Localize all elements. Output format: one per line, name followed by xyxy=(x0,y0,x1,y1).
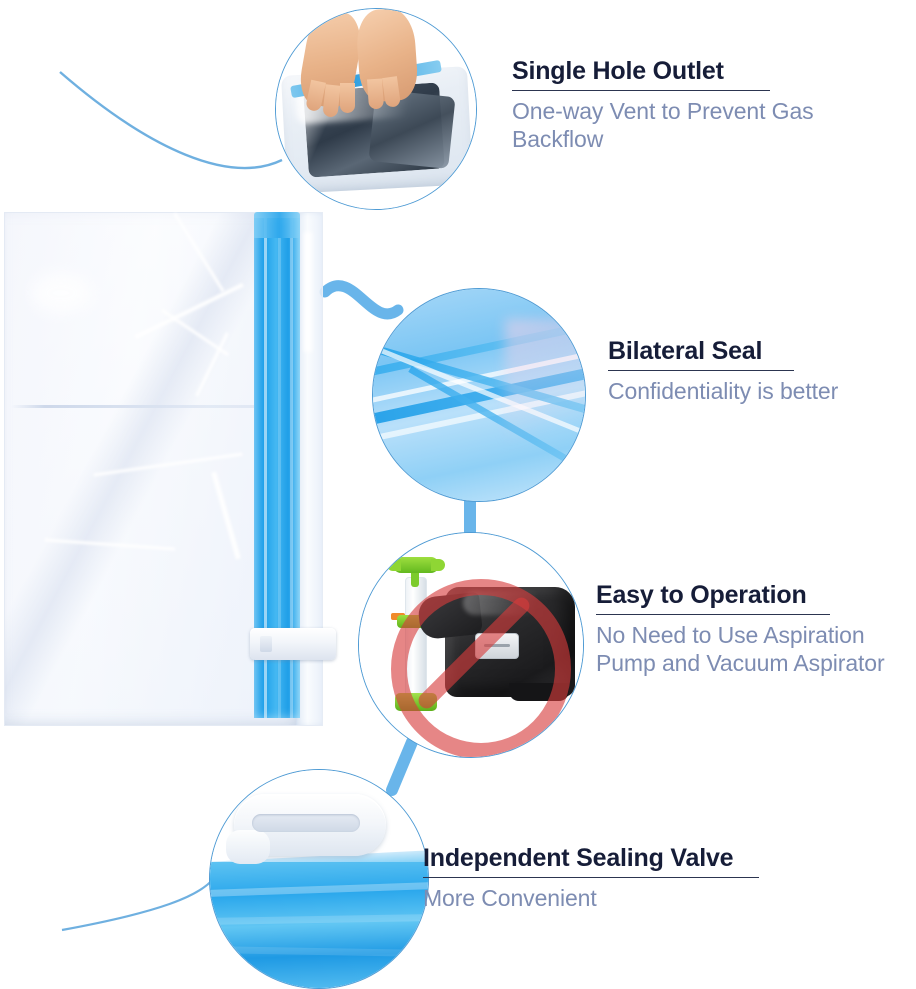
feature-subtitle: Confidentiality is better xyxy=(608,377,908,406)
infographic-canvas: Single Hole Outlet One-way Vent to Preve… xyxy=(0,0,916,981)
feature-text-bilateral-seal: Bilateral Seal Confidentiality is better xyxy=(608,338,908,405)
feature-text-independent-sealing-valve: Independent Sealing Valve More Convenien… xyxy=(423,845,903,912)
feature-subtitle: One-way Vent to Prevent Gas Backflow xyxy=(512,97,904,155)
feature-title: Easy to Operation xyxy=(596,582,916,610)
bag-slider-notch xyxy=(260,636,272,652)
bag-zipper-cap xyxy=(254,212,300,238)
feature-title: Independent Sealing Valve xyxy=(423,845,903,873)
feature-text-easy-to-operation: Easy to Operation No Need to Use Aspirat… xyxy=(596,582,916,678)
bag-highlight xyxy=(31,273,91,313)
bag-highlight xyxy=(45,538,175,550)
bag-highlight xyxy=(94,453,243,477)
feature-subtitle: More Convenient xyxy=(423,884,903,913)
bag-seam xyxy=(11,405,291,408)
title-underline xyxy=(608,370,794,371)
product-bag xyxy=(4,212,322,724)
bag-highlight xyxy=(211,472,241,560)
title-underline xyxy=(596,614,830,615)
feature-photo-independent-sealing-valve xyxy=(209,769,429,989)
feature-photo-easy-to-operation xyxy=(358,532,584,758)
prohibition-icon xyxy=(391,579,571,758)
bag-highlight xyxy=(304,232,312,352)
bag-highlight xyxy=(173,213,224,293)
feature-text-single-hole-outlet: Single Hole Outlet One-way Vent to Preve… xyxy=(512,58,904,154)
feature-title: Bilateral Seal xyxy=(608,338,908,366)
title-underline xyxy=(512,90,770,91)
feature-photo-bilateral-seal xyxy=(372,288,586,502)
title-underline xyxy=(423,877,759,878)
feature-subtitle: No Need to Use Aspiration Pump and Vacuu… xyxy=(596,621,916,679)
feature-photo-single-hole-outlet xyxy=(275,8,477,210)
feature-title: Single Hole Outlet xyxy=(512,58,904,86)
